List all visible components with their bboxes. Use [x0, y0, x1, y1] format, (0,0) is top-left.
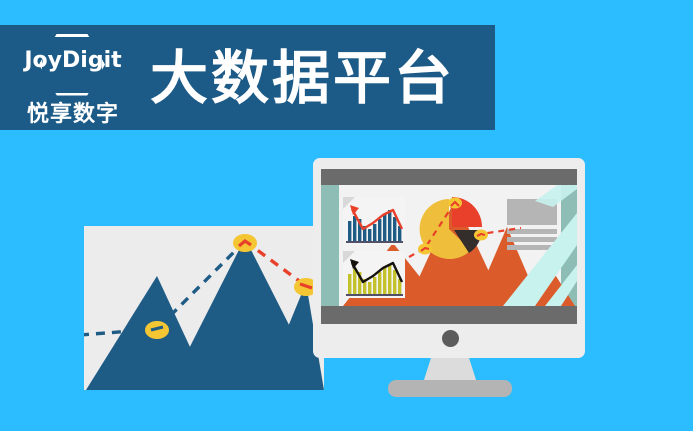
monitor-stand-base — [388, 380, 512, 397]
page-title: 大数据平台 — [150, 49, 455, 107]
dashboard-content — [321, 185, 577, 306]
screen-side-strip-left — [321, 185, 339, 306]
monitor-bottom-bezel — [321, 306, 577, 324]
header-banner: JoyDigit 悦享数字 大数据平台 — [0, 25, 495, 130]
logo-chinese-text: 悦享数字 — [14, 96, 132, 128]
poster-canvas: JoyDigit 悦享数字 大数据平台 — [0, 0, 693, 431]
olive-bar-card — [343, 251, 405, 298]
desktop-monitor — [313, 158, 585, 393]
text-block-line — [507, 237, 557, 242]
brand-logo: JoyDigit 悦享数字 — [14, 32, 132, 124]
power-indicator-icon — [442, 330, 459, 347]
blue-bar-card — [343, 197, 405, 245]
monitor-top-bezel — [321, 169, 577, 185]
mountain-line-chart-panel — [84, 226, 324, 390]
blue-mountain-chart — [84, 226, 324, 390]
monitor-screen — [321, 185, 577, 306]
logo-latin-text: JoyDigit — [14, 48, 132, 73]
